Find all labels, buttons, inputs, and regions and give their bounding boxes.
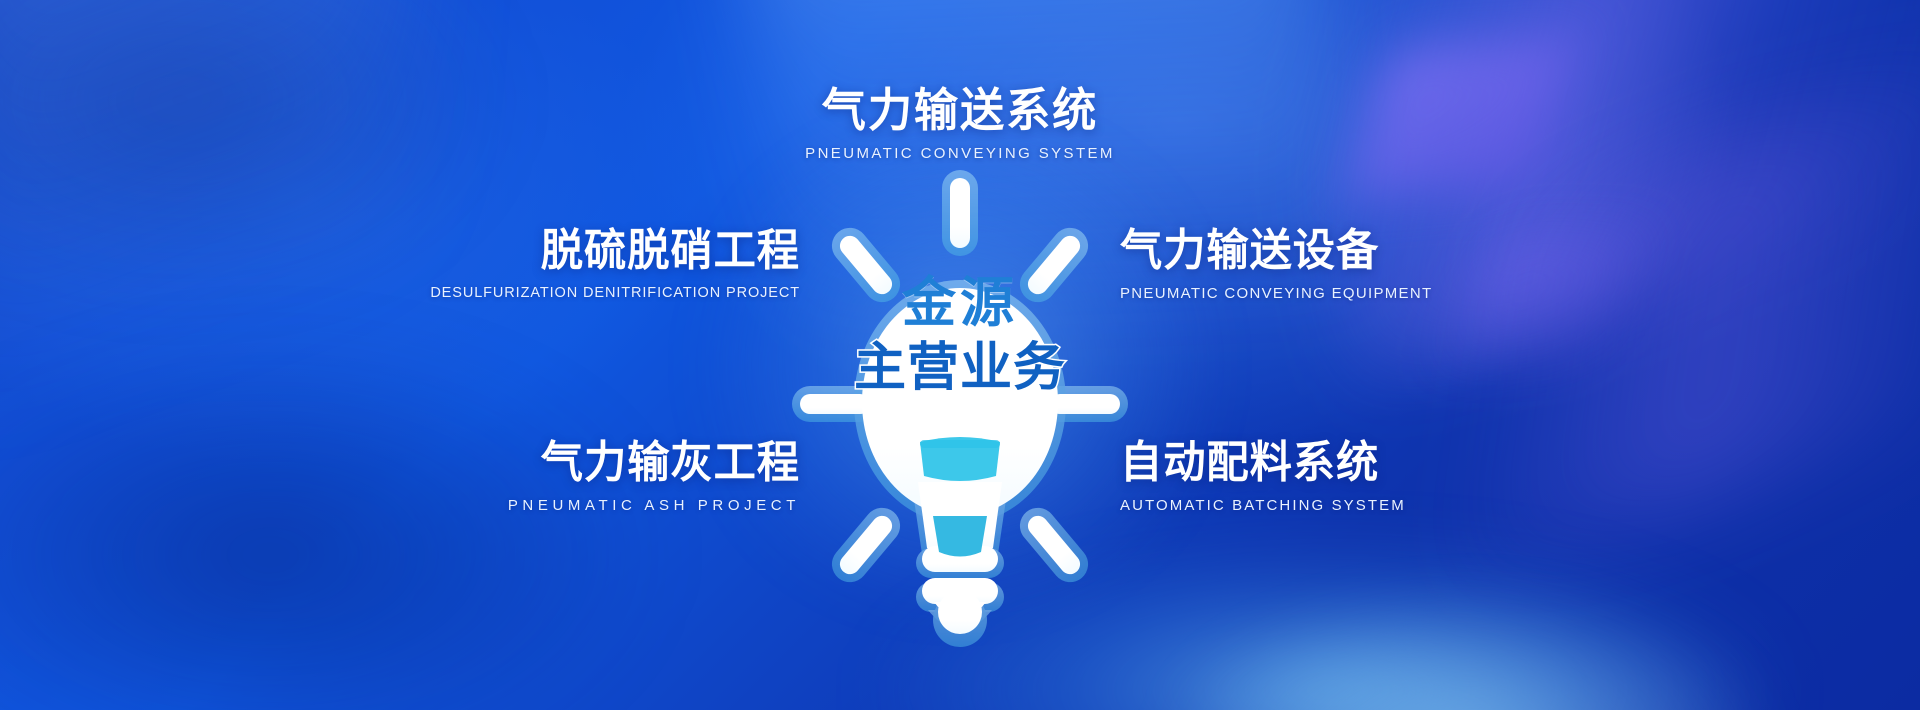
service-title-cn: 自动配料系统 [1120,440,1677,487]
service-title-en: PNEUMATIC CONVEYING SYSTEM [760,145,1160,162]
service-label-pneumatic-conveying-system[interactable]: 气力输送系统 PNEUMATIC CONVEYING SYSTEM [760,86,1160,162]
background-shade-bottom-left [0,340,660,710]
service-label-desulfurization-denitrification-project[interactable]: 脱硫脱硝工程 DESULFURIZATION DENITRIFICATION P… [220,228,800,301]
service-title-en: AUTOMATIC BATCHING SYSTEM [1120,497,1700,514]
hero-banner: 金源 主营业务 气力输送系统 PNEUMATIC CONVEYING SYSTE… [0,0,1920,710]
service-label-automatic-batching-system[interactable]: 自动配料系统 AUTOMATIC BATCHING SYSTEM [1120,440,1700,514]
service-title-en: DESULFURIZATION DENITRIFICATION PROJECT [220,285,800,301]
service-title-cn: 气力输送系统 [768,86,1152,135]
lightbulb-graphic: 金源 主营业务 [770,150,1150,670]
service-title-cn: 气力输灰工程 [243,440,800,487]
service-title-cn: 气力输送设备 [1120,228,1677,275]
service-title-cn: 脱硫脱硝工程 [243,228,800,275]
purple-light-patch [1344,36,1578,199]
lightbulb-icon [770,150,1150,670]
bottom-cyan-glow-highlight [1160,590,1780,710]
service-label-pneumatic-conveying-equipment[interactable]: 气力输送设备 PNEUMATIC CONVEYING EQUIPMENT [1120,228,1700,302]
service-title-en: PNEUMATIC ASH PROJECT [220,497,800,514]
service-label-pneumatic-ash-project[interactable]: 气力输灰工程 PNEUMATIC ASH PROJECT [220,440,800,514]
purple-streak-upper [1244,0,1920,376]
service-title-en: PNEUMATIC CONVEYING EQUIPMENT [1120,285,1700,302]
